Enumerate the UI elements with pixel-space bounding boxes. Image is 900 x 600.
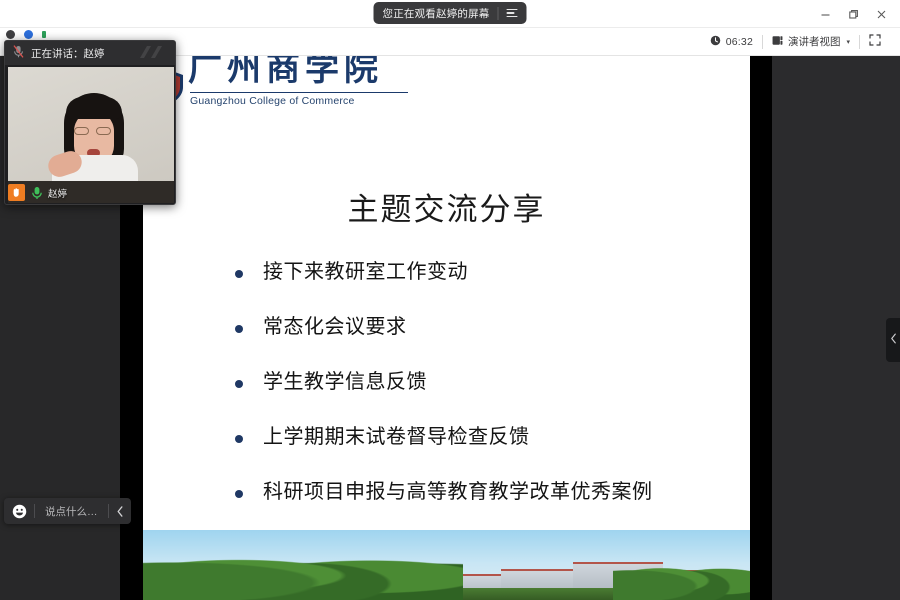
speaker-video-feed: [8, 67, 174, 203]
hamburger-menu-icon[interactable]: [507, 9, 518, 18]
bullet-dot-icon: [235, 490, 243, 498]
bullet-label: 常态化会议要求: [263, 311, 407, 342]
title-bar: 您正在观看赵婷的屏幕: [0, 0, 900, 28]
slide-logo: 广州商学院 Guangzhou College of Commerce: [188, 56, 428, 107]
speaking-label: 正在讲话：赵婷: [31, 46, 105, 61]
slide-logo-rule: [190, 92, 408, 94]
chevron-down-icon: ▾: [846, 38, 850, 46]
list-item: 上学期期末试卷督导检查反馈: [235, 421, 745, 476]
presentation-slide: 广州商学院 Guangzhou College of Commerce 主题交流…: [143, 56, 750, 600]
meeting-window: 您正在观看赵婷的屏幕: [0, 0, 900, 600]
bullet-dot-icon: [235, 380, 243, 388]
hand-raise-icon[interactable]: [8, 184, 25, 201]
list-item: 科研项目申报与高等教育教学改革优秀案例: [235, 476, 745, 531]
background-browser-tabs: [6, 30, 46, 39]
video-person-fringe: [66, 97, 122, 119]
campus-photo: [143, 530, 750, 600]
view-mode-selector[interactable]: 演讲者视图 ▾: [763, 32, 859, 52]
bullet-label: 上学期期末试卷督导检查反馈: [263, 421, 530, 452]
list-item: 学生教学信息反馈: [235, 366, 745, 421]
clock-icon: [710, 35, 721, 49]
chat-input[interactable]: 说点什么…: [35, 504, 108, 519]
bullet-dot-icon: [235, 325, 243, 333]
bullet-dot-icon: [235, 435, 243, 443]
watermark-icon: [138, 44, 170, 65]
restore-button[interactable]: [840, 3, 866, 25]
bullet-label: 科研项目申报与高等教育教学改革优秀案例: [263, 476, 653, 507]
slide-logo-en: Guangzhou College of Commerce: [190, 95, 428, 107]
screen-share-banner-label: 您正在观看赵婷的屏幕: [383, 6, 490, 21]
photo-trees: [143, 542, 463, 600]
screen-share-banner[interactable]: 您正在观看赵婷的屏幕: [374, 2, 527, 24]
bullet-dot-icon: [235, 270, 243, 278]
presenter-view-icon: [772, 35, 783, 49]
minimize-button[interactable]: [812, 3, 838, 25]
video-person-glasses: [96, 127, 111, 135]
letterbox-right: [750, 56, 772, 600]
list-item: 接下来教研室工作变动: [235, 256, 745, 311]
fullscreen-button[interactable]: [860, 32, 890, 52]
speaker-video-panel[interactable]: 正在讲话：赵婷: [4, 40, 176, 205]
fullscreen-icon: [869, 34, 881, 49]
list-item: 常态化会议要求: [235, 311, 745, 366]
emoji-icon[interactable]: [4, 498, 34, 524]
divider: [498, 7, 499, 20]
chevron-left-icon: [890, 333, 897, 347]
video-person-glasses: [74, 127, 89, 135]
photo-trees: [613, 554, 750, 600]
slide-title: 主题交流分享: [143, 184, 750, 229]
mic-muted-icon: [13, 45, 24, 61]
chat-bar[interactable]: 说点什么…: [4, 498, 131, 524]
mic-active-icon[interactable]: [29, 184, 44, 201]
tab-bar-icon: [42, 31, 46, 38]
view-mode-label: 演讲者视图: [788, 34, 841, 49]
tab-dot-icon: [6, 30, 15, 39]
close-button[interactable]: [868, 3, 894, 25]
slide-logo-cn: 广州商学院: [188, 56, 428, 91]
window-controls: [812, 0, 894, 28]
meeting-timer: 06:32: [701, 32, 762, 52]
speaker-video-footer: 赵婷: [8, 184, 71, 201]
elapsed-time: 06:32: [726, 36, 753, 48]
stage-right-margin: [750, 56, 900, 600]
panel-collapse-tab[interactable]: [886, 318, 900, 362]
tab-dot-icon: [24, 30, 33, 39]
bullet-label: 学生教学信息反馈: [263, 366, 427, 397]
chevron-left-icon[interactable]: [109, 498, 131, 524]
participant-name: 赵婷: [48, 186, 71, 200]
bullet-label: 接下来教研室工作变动: [263, 256, 468, 287]
